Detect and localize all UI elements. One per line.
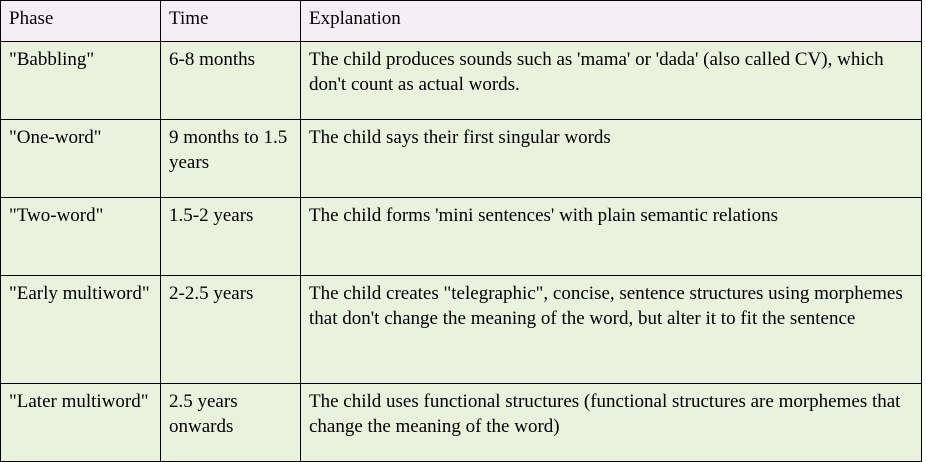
cell-explanation: The child says their first singular word… xyxy=(301,120,922,198)
table-header: Phase Time Explanation xyxy=(1,1,922,42)
table-container: Phase Time Explanation "Babbling" 6-8 mo… xyxy=(0,0,921,462)
cell-time: 6-8 months xyxy=(161,42,301,120)
table-row: "Two-word" 1.5-2 years The child forms '… xyxy=(1,198,922,276)
cell-phase: "Babbling" xyxy=(1,42,161,120)
cell-phase: "Two-word" xyxy=(1,198,161,276)
language-acquisition-phases-table: Phase Time Explanation "Babbling" 6-8 mo… xyxy=(0,0,922,462)
cell-time: 1.5-2 years xyxy=(161,198,301,276)
table-row: "Later multiword" 2.5 years onwards The … xyxy=(1,384,922,462)
table-row: "One-word" 9 months to 1.5 years The chi… xyxy=(1,120,922,198)
column-header-time: Time xyxy=(161,1,301,42)
cell-time: 2.5 years onwards xyxy=(161,384,301,462)
table-body: "Babbling" 6-8 months The child produces… xyxy=(1,42,922,462)
cell-explanation: The child creates "telegraphic", concise… xyxy=(301,276,922,384)
column-header-phase: Phase xyxy=(1,1,161,42)
cell-phase: "One-word" xyxy=(1,120,161,198)
table-row: "Babbling" 6-8 months The child produces… xyxy=(1,42,922,120)
table-row: "Early multiword" 2-2.5 years The child … xyxy=(1,276,922,384)
cell-explanation: The child uses functional structures (fu… xyxy=(301,384,922,462)
cell-phase: "Later multiword" xyxy=(1,384,161,462)
cell-phase: "Early multiword" xyxy=(1,276,161,384)
column-header-explanation: Explanation xyxy=(301,1,922,42)
cell-explanation: The child forms 'mini sentences' with pl… xyxy=(301,198,922,276)
cell-time: 9 months to 1.5 years xyxy=(161,120,301,198)
cell-time: 2-2.5 years xyxy=(161,276,301,384)
table-header-row: Phase Time Explanation xyxy=(1,1,922,42)
cell-explanation: The child produces sounds such as 'mama'… xyxy=(301,42,922,120)
